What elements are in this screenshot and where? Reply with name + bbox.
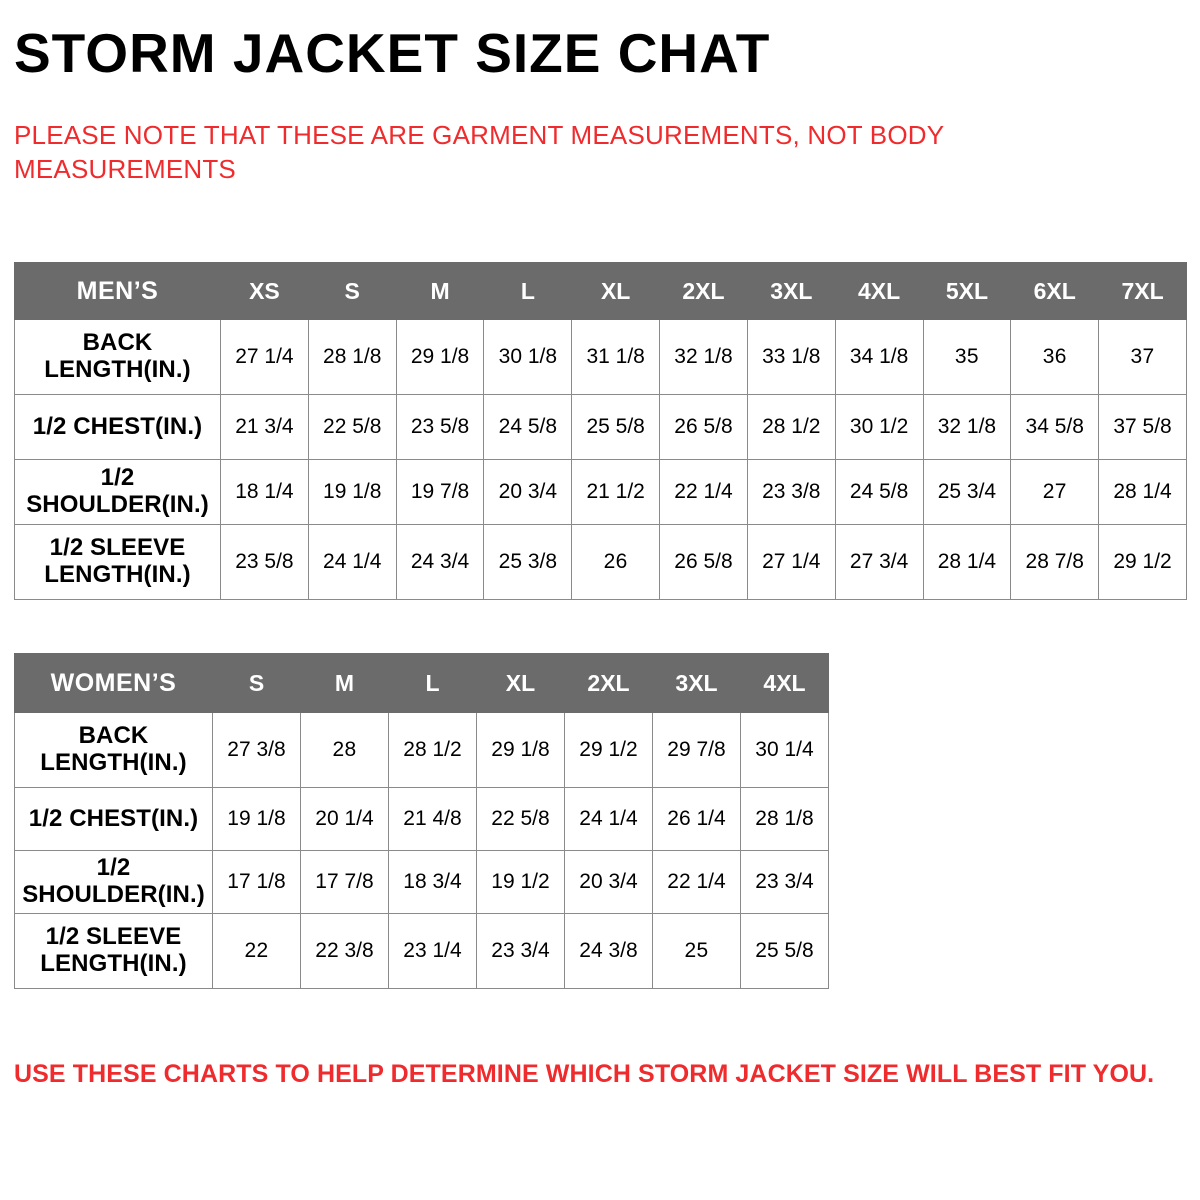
measurement-cell: 25 5/8 [572,395,660,460]
table-row: BACKLENGTH(IN.)27 1/428 1/829 1/830 1/83… [15,320,1187,395]
measurement-cell: 24 5/8 [835,460,923,525]
size-column-header: 2XL [565,654,653,713]
measurement-cell: 18 3/4 [389,851,477,914]
measurement-cell: 27 1/4 [747,525,835,600]
size-column-header: XL [477,654,565,713]
womens-table-body: BACKLENGTH(IN.)27 3/82828 1/229 1/829 1/… [15,713,829,989]
measurement-cell: 19 1/2 [477,851,565,914]
measurement-cell: 22 3/8 [301,914,389,989]
table-header-row: MEN’S XSSMLXL2XL3XL4XL5XL6XL7XL [15,263,1187,320]
measurement-cell: 34 5/8 [1011,395,1099,460]
row-label-line: LENGTH(IN.) [44,356,190,383]
womens-size-table: WOMEN’S SMLXL2XL3XL4XL BACKLENGTH(IN.)27… [14,653,829,989]
measurement-row-label: 1/2 SLEEVELENGTH(IN.) [15,914,213,989]
measurement-cell: 32 1/8 [923,395,1011,460]
row-label-line: 1/2 SHOULDER(IN.) [22,854,205,908]
size-column-header: L [484,263,572,320]
measurement-cell: 30 1/2 [835,395,923,460]
row-label-line: 1/2 CHEST(IN.) [29,805,198,832]
womens-corner-label: WOMEN’S [15,654,213,713]
row-label-line: 1/2 SLEEVE [50,534,186,561]
measurement-row-label: 1/2 SHOULDER(IN.) [15,851,213,914]
size-column-header: 2XL [660,263,748,320]
measurement-cell: 29 1/8 [477,713,565,788]
measurement-cell: 23 5/8 [396,395,484,460]
measurement-cell: 28 1/4 [923,525,1011,600]
measurement-cell: 37 [1099,320,1187,395]
measurement-cell: 26 5/8 [660,525,748,600]
measurement-cell: 28 1/8 [308,320,396,395]
measurement-cell: 20 1/4 [301,788,389,851]
measurement-row-label: 1/2 CHEST(IN.) [15,395,221,460]
size-column-header: S [213,654,301,713]
measurement-cell: 21 3/4 [221,395,309,460]
size-column-header: 4XL [741,654,829,713]
measurement-cell: 27 3/8 [213,713,301,788]
measurement-cell: 31 1/8 [572,320,660,395]
measurement-cell: 23 3/4 [741,851,829,914]
measurement-cell: 30 1/8 [484,320,572,395]
measurement-cell: 27 [1011,460,1099,525]
measurement-cell: 29 1/2 [565,713,653,788]
table-row: 1/2 CHEST(IN.)21 3/422 5/823 5/824 5/825… [15,395,1187,460]
size-column-header: 6XL [1011,263,1099,320]
size-column-header: S [308,263,396,320]
measurement-cell: 29 1/2 [1099,525,1187,600]
measurement-row-label: 1/2 SHOULDER(IN.) [15,460,221,525]
measurement-cell: 24 5/8 [484,395,572,460]
size-column-header: 7XL [1099,263,1187,320]
garment-measurement-notice: PLEASE NOTE THAT THESE ARE GARMENT MEASU… [14,118,974,187]
row-label-line: BACK [83,329,153,356]
mens-table-body: BACKLENGTH(IN.)27 1/428 1/829 1/830 1/83… [15,320,1187,600]
measurement-cell: 22 [213,914,301,989]
measurement-cell: 32 1/8 [660,320,748,395]
chart-usage-notice: USE THESE CHARTS TO HELP DETERMINE WHICH… [14,1060,1184,1089]
table-row: 1/2 SLEEVELENGTH(IN.)23 5/824 1/424 3/42… [15,525,1187,600]
measurement-cell: 34 1/8 [835,320,923,395]
table-row: BACKLENGTH(IN.)27 3/82828 1/229 1/829 1/… [15,713,829,788]
size-column-header: M [301,654,389,713]
measurement-cell: 28 1/2 [747,395,835,460]
row-label-line: LENGTH(IN.) [40,749,186,776]
measurement-cell: 22 5/8 [477,788,565,851]
row-label-line: 1/2 SLEEVE [46,923,182,950]
table-row: 1/2 SLEEVELENGTH(IN.)2222 3/823 1/423 3/… [15,914,829,989]
measurement-cell: 23 3/8 [747,460,835,525]
measurement-row-label: BACKLENGTH(IN.) [15,320,221,395]
measurement-cell: 22 1/4 [653,851,741,914]
measurement-cell: 27 1/4 [221,320,309,395]
measurement-cell: 29 7/8 [653,713,741,788]
size-column-header: M [396,263,484,320]
measurement-cell: 21 4/8 [389,788,477,851]
size-column-header: XS [221,263,309,320]
row-label-line: LENGTH(IN.) [40,950,186,977]
measurement-cell: 24 1/4 [565,788,653,851]
measurement-cell: 37 5/8 [1099,395,1187,460]
row-label-line: LENGTH(IN.) [44,561,190,588]
measurement-cell: 23 5/8 [221,525,309,600]
measurement-cell: 30 1/4 [741,713,829,788]
measurement-cell: 25 3/4 [923,460,1011,525]
measurement-cell: 22 5/8 [308,395,396,460]
measurement-cell: 18 1/4 [221,460,309,525]
measurement-cell: 36 [1011,320,1099,395]
table-row: 1/2 SHOULDER(IN.)18 1/419 1/819 7/820 3/… [15,460,1187,525]
measurement-cell: 27 3/4 [835,525,923,600]
mens-table-header: MEN’S XSSMLXL2XL3XL4XL5XL6XL7XL [15,263,1187,320]
row-label-line: 1/2 SHOULDER(IN.) [26,464,209,518]
measurement-row-label: 1/2 CHEST(IN.) [15,788,213,851]
measurement-row-label: 1/2 SLEEVELENGTH(IN.) [15,525,221,600]
measurement-cell: 25 [653,914,741,989]
measurement-cell: 28 7/8 [1011,525,1099,600]
measurement-cell: 29 1/8 [396,320,484,395]
size-column-header: L [389,654,477,713]
row-label-line: 1/2 CHEST(IN.) [33,413,202,440]
measurement-cell: 28 1/8 [741,788,829,851]
measurement-cell: 25 3/8 [484,525,572,600]
row-label-line: BACK [79,722,149,749]
measurement-cell: 17 7/8 [301,851,389,914]
size-column-header: 4XL [835,263,923,320]
measurement-cell: 28 1/4 [1099,460,1187,525]
size-column-header: 3XL [653,654,741,713]
table-row: 1/2 SHOULDER(IN.)17 1/817 7/818 3/419 1/… [15,851,829,914]
measurement-cell: 24 1/4 [308,525,396,600]
size-column-header: XL [572,263,660,320]
measurement-cell: 22 1/4 [660,460,748,525]
measurement-cell: 26 1/4 [653,788,741,851]
mens-size-table: MEN’S XSSMLXL2XL3XL4XL5XL6XL7XL BACKLENG… [14,262,1187,600]
page-title: STORM JACKET SIZE CHAT [14,26,770,81]
measurement-cell: 28 1/2 [389,713,477,788]
measurement-cell: 28 [301,713,389,788]
measurement-cell: 23 1/4 [389,914,477,989]
size-column-header: 5XL [923,263,1011,320]
measurement-cell: 23 3/4 [477,914,565,989]
measurement-cell: 24 3/8 [565,914,653,989]
measurement-cell: 17 1/8 [213,851,301,914]
measurement-cell: 20 3/4 [484,460,572,525]
measurement-cell: 26 [572,525,660,600]
measurement-cell: 19 1/8 [213,788,301,851]
measurement-row-label: BACKLENGTH(IN.) [15,713,213,788]
measurement-cell: 26 5/8 [660,395,748,460]
measurement-cell: 25 5/8 [741,914,829,989]
mens-corner-label: MEN’S [15,263,221,320]
measurement-cell: 33 1/8 [747,320,835,395]
measurement-cell: 19 7/8 [396,460,484,525]
measurement-cell: 19 1/8 [308,460,396,525]
measurement-cell: 20 3/4 [565,851,653,914]
womens-table-header: WOMEN’S SMLXL2XL3XL4XL [15,654,829,713]
measurement-cell: 21 1/2 [572,460,660,525]
table-header-row: WOMEN’S SMLXL2XL3XL4XL [15,654,829,713]
size-column-header: 3XL [747,263,835,320]
table-row: 1/2 CHEST(IN.)19 1/820 1/421 4/822 5/824… [15,788,829,851]
measurement-cell: 24 3/4 [396,525,484,600]
measurement-cell: 35 [923,320,1011,395]
